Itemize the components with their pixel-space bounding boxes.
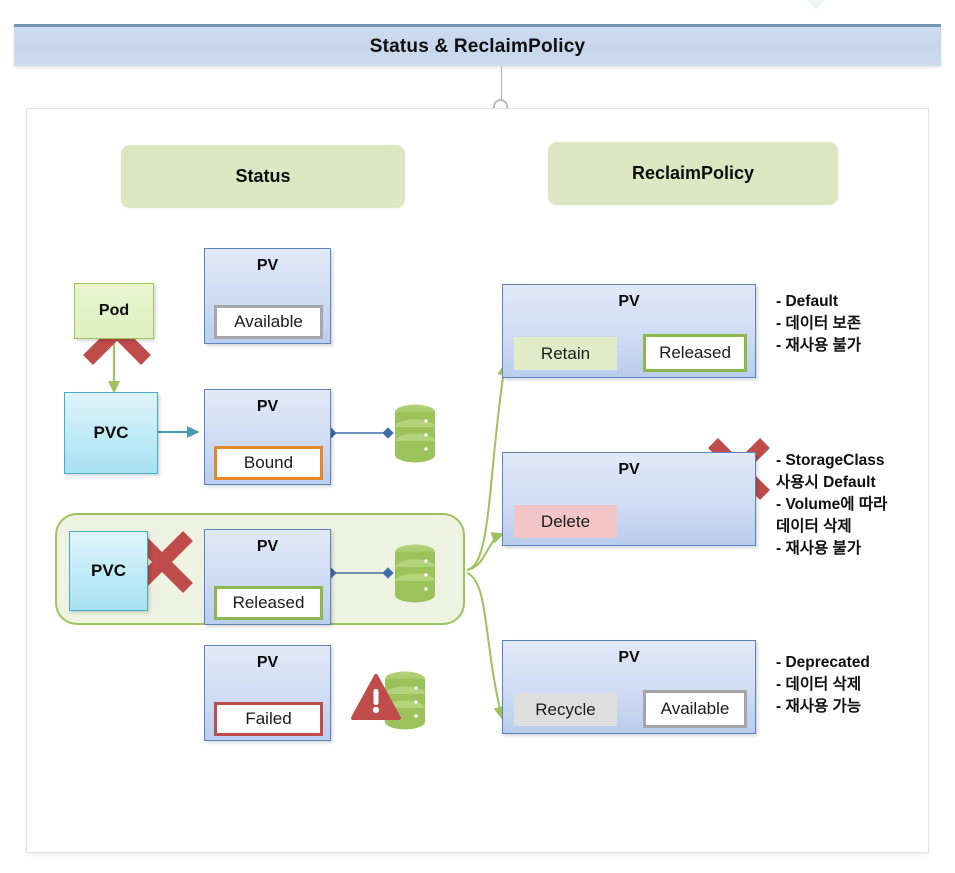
status-badge-failed: Failed <box>214 702 323 736</box>
pvc-box-bound[interactable]: PVC <box>64 392 158 474</box>
diagram-canvas: Status & ReclaimPolicy Status ReclaimPol… <box>0 0 955 873</box>
pvc-label: PVC <box>94 423 129 443</box>
pv-title: PV <box>205 654 330 672</box>
pvc-box-released[interactable]: PVC <box>69 531 148 611</box>
pv-title: PV <box>205 257 330 275</box>
policy-chip-retain: Retain <box>514 337 617 370</box>
policy-chip-recycle: Recycle <box>514 693 617 726</box>
section-header-status: Status <box>121 145 405 208</box>
status-badge-available: Available <box>214 305 323 339</box>
pv-box-released[interactable]: PV Released <box>204 529 331 625</box>
policy-box-retain[interactable]: PV Retain Released <box>502 284 756 378</box>
section-header-status-label: Status <box>235 166 290 187</box>
policy-box-recycle[interactable]: PV Recycle Available <box>502 640 756 734</box>
policy-chip-delete: Delete <box>514 505 617 538</box>
pvc-label: PVC <box>91 561 126 581</box>
pv-box-bound[interactable]: PV Bound <box>204 389 331 485</box>
pv-title: PV <box>205 398 330 416</box>
pv-title: PV <box>503 293 755 311</box>
pv-title: PV <box>205 538 330 556</box>
pod-label: Pod <box>99 302 129 320</box>
section-header-reclaimpolicy-label: ReclaimPolicy <box>632 163 754 184</box>
policy-notes-recycle: - Deprecated - 데이터 삭제 - 재사용 가능 <box>776 652 955 718</box>
policy-notes-delete: - StorageClass 사용시 Default - Volume에 따라 … <box>776 450 955 560</box>
chevron-down-icon <box>795 0 837 10</box>
policy-notes-retain: - Default - 데이터 보존 - 재사용 불가 <box>776 291 951 357</box>
status-badge-released: Released <box>643 334 747 372</box>
status-badge-available: Available <box>643 690 747 728</box>
pv-box-available[interactable]: PV Available <box>204 248 331 344</box>
pv-box-failed[interactable]: PV Failed <box>204 645 331 741</box>
pod-box[interactable]: Pod <box>74 283 154 339</box>
policy-box-delete[interactable]: PV Delete <box>502 452 756 546</box>
pv-title: PV <box>503 649 755 667</box>
pv-title: PV <box>503 461 755 479</box>
section-header-reclaimpolicy: ReclaimPolicy <box>548 142 838 205</box>
status-badge-released: Released <box>214 586 323 620</box>
status-badge-bound: Bound <box>214 446 323 480</box>
page-title: Status & ReclaimPolicy <box>370 36 586 58</box>
diagram-title-bar: Status & ReclaimPolicy <box>14 24 941 66</box>
